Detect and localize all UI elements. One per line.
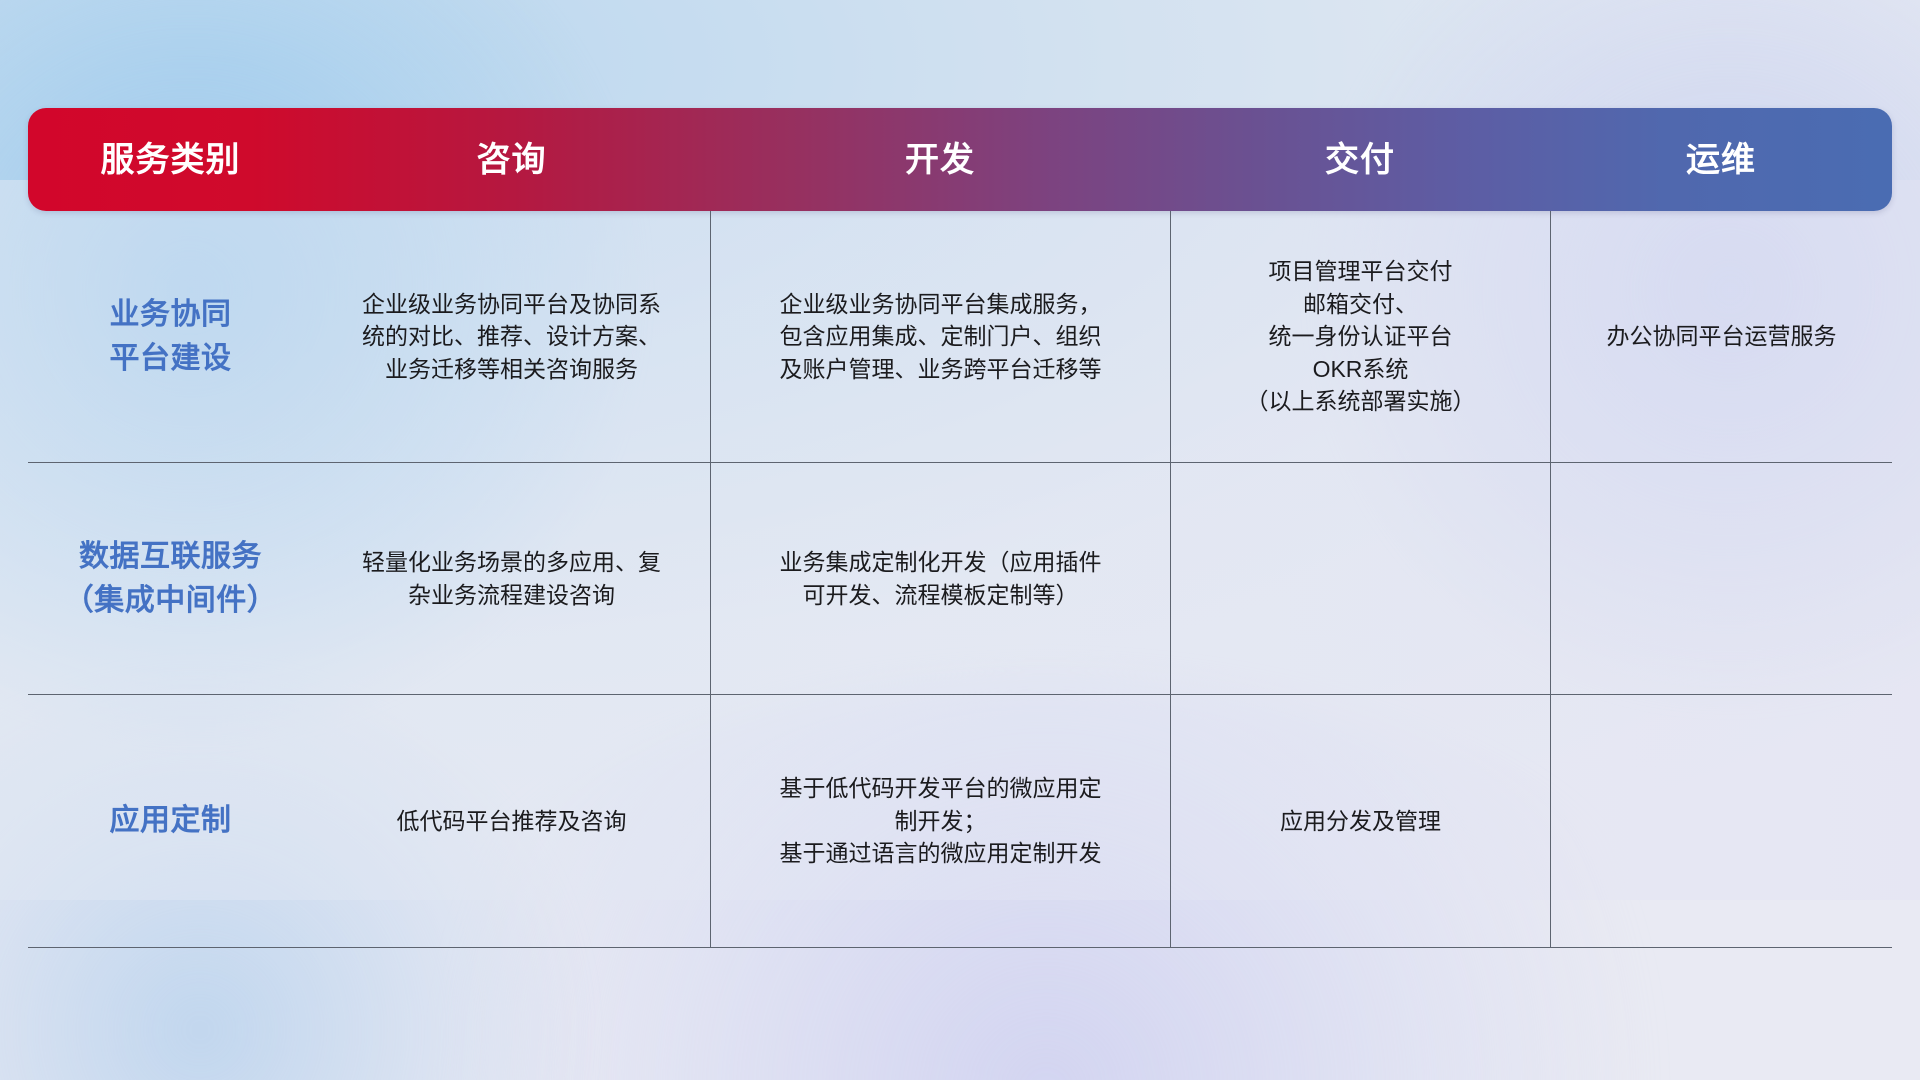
cell-operations bbox=[1550, 695, 1892, 947]
table-row: 业务协同 平台建设 企业级业务协同平台及协同系 统的对比、推荐、设计方案、 业务… bbox=[28, 211, 1892, 463]
column-header-development: 开发 bbox=[710, 108, 1170, 211]
cell-operations: 办公协同平台运营服务 bbox=[1550, 211, 1892, 462]
service-matrix-table: 服务类别 咨询 开发 交付 运维 业务协同 平台建设 企业级业务协同平台及协同系… bbox=[28, 108, 1892, 948]
table-body: 业务协同 平台建设 企业级业务协同平台及协同系 统的对比、推荐、设计方案、 业务… bbox=[28, 211, 1892, 948]
row-label-cell: 数据互联服务 （集成中间件） bbox=[28, 463, 313, 694]
column-header-operations: 运维 bbox=[1550, 108, 1892, 211]
cell-consulting: 低代码平台推荐及咨询 bbox=[313, 695, 710, 947]
cell-development: 基于低代码开发平台的微应用定 制开发； 基于通过语言的微应用定制开发 bbox=[710, 695, 1170, 947]
cell-delivery bbox=[1170, 463, 1550, 694]
column-header-consulting: 咨询 bbox=[313, 108, 710, 211]
row-label-cell: 应用定制 bbox=[28, 695, 313, 947]
cell-delivery: 项目管理平台交付 邮箱交付、 统一身份认证平台 OKR系统 （以上系统部署实施） bbox=[1170, 211, 1550, 462]
row-label-cell: 业务协同 平台建设 bbox=[28, 211, 313, 462]
cell-delivery: 应用分发及管理 bbox=[1170, 695, 1550, 947]
table-row: 应用定制 低代码平台推荐及咨询 基于低代码开发平台的微应用定 制开发； 基于通过… bbox=[28, 695, 1892, 948]
cell-consulting: 轻量化业务场景的多应用、复 杂业务流程建设咨询 bbox=[313, 463, 710, 694]
cell-development: 企业级业务协同平台集成服务， 包含应用集成、定制门户、组织 及账户管理、业务跨平… bbox=[710, 211, 1170, 462]
column-header-delivery: 交付 bbox=[1170, 108, 1550, 211]
table-header-row: 服务类别 咨询 开发 交付 运维 bbox=[28, 108, 1892, 211]
table-row: 数据互联服务 （集成中间件） 轻量化业务场景的多应用、复 杂业务流程建设咨询 业… bbox=[28, 463, 1892, 695]
column-header-service-category: 服务类别 bbox=[28, 108, 313, 211]
cell-operations bbox=[1550, 463, 1892, 694]
cell-consulting: 企业级业务协同平台及协同系 统的对比、推荐、设计方案、 业务迁移等相关咨询服务 bbox=[313, 211, 710, 462]
cell-development: 业务集成定制化开发（应用插件 可开发、流程模板定制等） bbox=[710, 463, 1170, 694]
